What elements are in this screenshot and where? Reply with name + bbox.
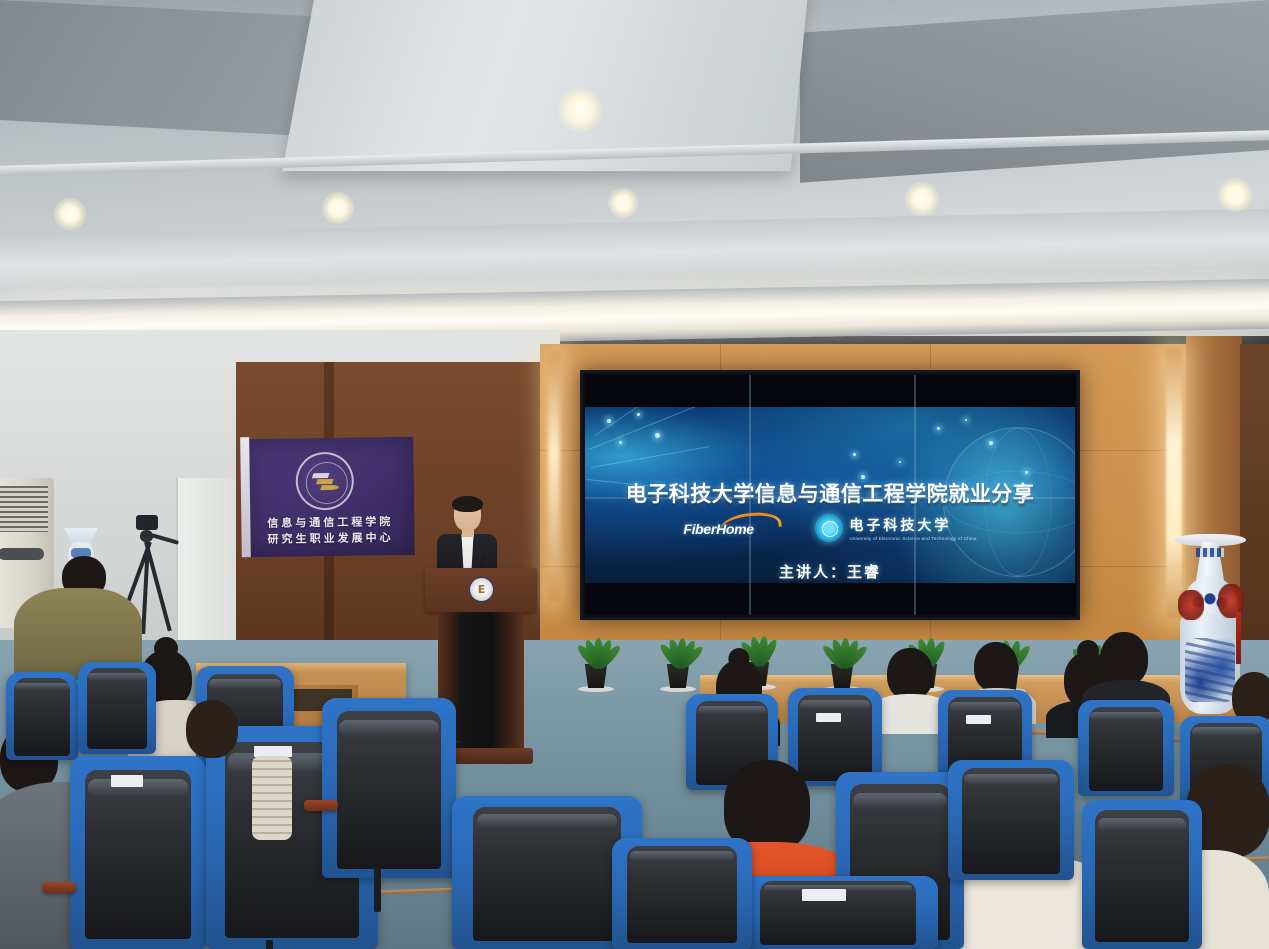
water-bottle[interactable]	[325, 648, 334, 678]
uestc-name-cn: 电子科技大学	[849, 515, 976, 535]
audience-member-standing	[14, 556, 142, 676]
lectern-top: E	[425, 568, 537, 612]
particle	[899, 461, 901, 463]
lectern-emblem-icon: E	[469, 577, 494, 602]
network-line	[591, 446, 709, 468]
slide-title: 电子科技大学信息与通信工程学院就业分享	[585, 478, 1075, 508]
downlight-icon	[54, 198, 86, 230]
particle	[853, 453, 856, 456]
particle	[607, 419, 611, 423]
auditorium-seat[interactable]	[6, 672, 78, 760]
downlight-icon	[905, 182, 939, 216]
panel-bezel	[749, 375, 751, 615]
screen-letterbox-bottom	[585, 583, 1075, 615]
auditorium-seat[interactable]	[70, 756, 206, 949]
seat-leg	[374, 866, 381, 912]
seat-leg	[266, 940, 273, 949]
uestc-logo: 电子科技大学 University of Electronic Science …	[815, 514, 976, 542]
tripod-pan-arm	[151, 533, 179, 545]
seat-number-tag	[802, 889, 846, 901]
lectern-emblem-letter: E	[478, 584, 486, 595]
camera-icon	[136, 515, 158, 530]
auditorium-seat[interactable]	[738, 876, 938, 949]
panel-bezel	[914, 375, 916, 615]
water-bottle[interactable]	[344, 648, 353, 678]
banner-line-2: 研究生职业发展中心	[246, 529, 414, 547]
vase-red-ornament	[1178, 590, 1204, 620]
seat-number-tag	[966, 715, 990, 724]
auditorium-seat[interactable]	[1082, 800, 1202, 949]
slide-logo-row: FiberHome 电子科技大学 University of Electroni…	[585, 514, 1075, 542]
downlight-icon	[608, 188, 638, 218]
video-wall-display[interactable]: 电子科技大学信息与通信工程学院就业分享 FiberHome 电子科技大学 Uni…	[580, 370, 1080, 620]
seat-armrest	[304, 800, 338, 811]
seat-number-tag	[111, 775, 144, 787]
fiberhome-logo: FiberHome	[683, 515, 779, 541]
side-door[interactable]	[176, 478, 238, 663]
audience-head	[186, 700, 238, 758]
banner-seal-mark	[313, 471, 341, 493]
downlight-icon	[1218, 178, 1252, 212]
uestc-emblem-icon	[815, 514, 843, 542]
particle	[619, 441, 622, 444]
screen-letterbox-top	[585, 375, 1075, 407]
auditorium-seat[interactable]	[612, 838, 752, 949]
lecture-hall-photo: 信息与通信工程学院 研究生职业发展中心 电子科技大学信息与通信工程学院就业分享	[0, 0, 1269, 949]
department-banner: 信息与通信工程学院 研究生职业发展中心	[245, 437, 415, 557]
potted-plant	[648, 622, 708, 688]
vase-red-tassel	[1236, 612, 1241, 664]
downlight-icon	[558, 88, 602, 132]
audience-head	[1100, 632, 1148, 686]
vase-landscape-motif	[1185, 638, 1235, 702]
downlight-icon	[322, 192, 354, 224]
potted-plant	[566, 622, 626, 688]
auditorium-seat[interactable]	[1078, 700, 1174, 796]
audience-sleeve	[252, 756, 292, 840]
seat-number-tag	[816, 713, 840, 722]
panel-bezel	[585, 497, 1075, 499]
fiberhome-wordmark: FiberHome	[683, 521, 753, 537]
audience-head	[974, 642, 1018, 692]
particle	[655, 433, 660, 438]
auditorium-seat[interactable]	[322, 698, 456, 878]
presenter-hair	[452, 496, 483, 512]
ac-grill-icon	[0, 486, 48, 532]
particle	[937, 427, 940, 430]
banner-seal-icon	[295, 452, 354, 511]
particle	[989, 441, 993, 445]
ceiling-recess-right	[800, 0, 1269, 183]
auditorium-seat[interactable]	[78, 662, 156, 754]
slide-speaker-line: 主讲人：王睿	[585, 561, 1075, 582]
potted-plant	[812, 622, 872, 688]
uestc-name-en: University of Electronic Science and Tec…	[849, 536, 976, 541]
audience-head	[887, 648, 933, 700]
particle	[637, 413, 640, 416]
ceiling-band	[0, 209, 1269, 292]
particle	[965, 419, 967, 421]
auditorium-seat[interactable]	[948, 760, 1074, 880]
wall-light-strip	[548, 352, 560, 602]
seat-armrest	[42, 882, 76, 893]
vase-neck-pattern	[1196, 548, 1224, 557]
slide-canvas: 电子科技大学信息与通信工程学院就业分享 FiberHome 电子科技大学 Uni…	[585, 375, 1075, 615]
particle	[1025, 471, 1028, 474]
